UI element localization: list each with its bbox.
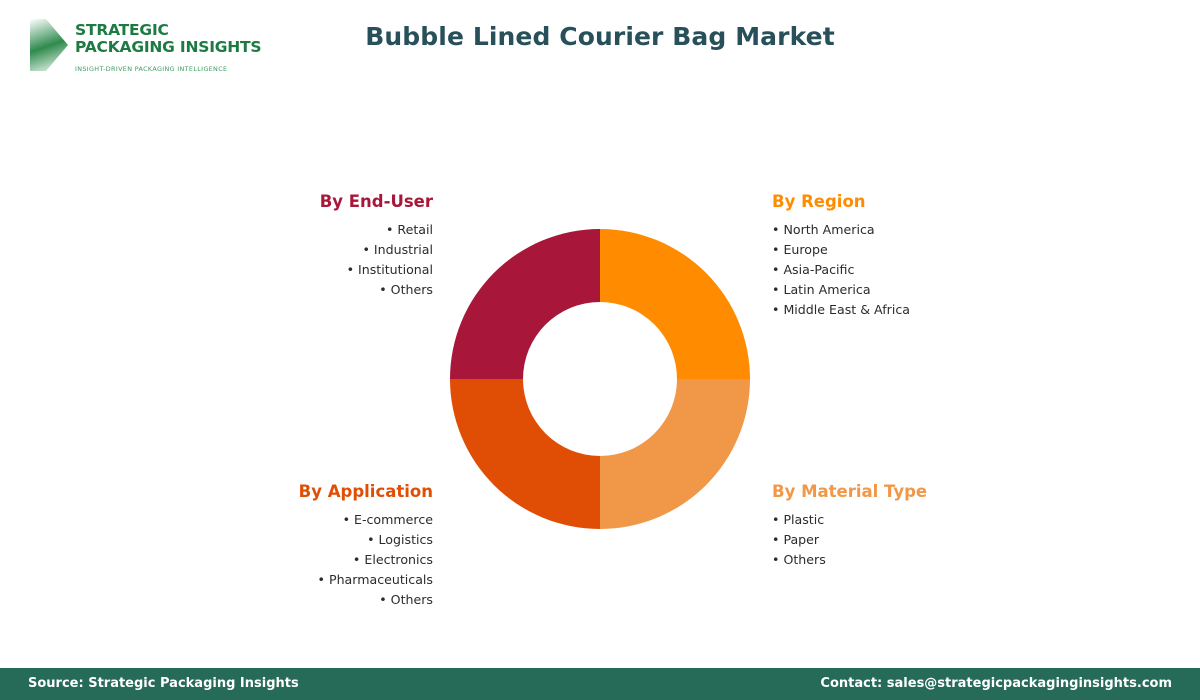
list-item: •Pharmaceuticals (180, 570, 433, 590)
segment-group-region: By Region •North America •Europe •Asia-P… (772, 192, 1032, 320)
donut-slice-region (600, 229, 750, 379)
segment-title-region: By Region (772, 192, 1032, 211)
list-item-label: Asia-Pacific (783, 262, 854, 277)
list-item: •Others (772, 550, 1032, 570)
donut-slice-material-type (600, 379, 750, 529)
bullet-icon: • (362, 242, 373, 257)
brand-tagline: INSIGHT-DRIVEN PACKAGING INTELLIGENCE (75, 65, 261, 73)
segment-title-end-user: By End-User (190, 192, 433, 211)
donut-slice-application (450, 379, 600, 529)
market-segmentation-donut-chart (450, 229, 750, 529)
footer-source-text: Source: Strategic Packaging Insights (28, 676, 299, 691)
bullet-icon: • (772, 532, 783, 547)
bullet-icon: • (347, 262, 358, 277)
footer-contact-text: Contact: sales@strategicpackaginginsight… (820, 676, 1172, 691)
list-item: •Middle East & Africa (772, 300, 1032, 320)
list-item-label: Paper (783, 532, 819, 547)
segment-title-material-type: By Material Type (772, 482, 1032, 501)
list-item-label: Industrial (374, 242, 433, 257)
list-item: •Electronics (180, 550, 433, 570)
bullet-icon: • (772, 282, 783, 297)
list-item-label: Others (783, 552, 825, 567)
page-title: Bubble Lined Courier Bag Market (0, 22, 1200, 51)
list-item: •Others (180, 590, 433, 610)
segment-group-material-type: By Material Type •Plastic •Paper •Others (772, 482, 1032, 570)
segment-list-end-user: •Retail •Industrial •Institutional •Othe… (190, 220, 433, 300)
bullet-icon: • (772, 552, 783, 567)
bullet-icon: • (318, 572, 329, 587)
list-item: •Retail (190, 220, 433, 240)
list-item: •Plastic (772, 510, 1032, 530)
bullet-icon: • (772, 512, 783, 527)
segment-list-application: •E-commerce •Logistics •Electronics •Pha… (180, 510, 433, 610)
list-item-label: North America (783, 222, 874, 237)
list-item-label: Logistics (379, 532, 433, 547)
list-item: •Paper (772, 530, 1032, 550)
list-item-label: Latin America (783, 282, 870, 297)
bullet-icon: • (379, 282, 390, 297)
bullet-icon: • (367, 532, 378, 547)
list-item-label: Institutional (358, 262, 433, 277)
bullet-icon: • (386, 222, 397, 237)
bullet-icon: • (379, 592, 390, 607)
bullet-icon: • (772, 222, 783, 237)
bullet-icon: • (343, 512, 354, 527)
list-item-label: Electronics (364, 552, 433, 567)
list-item-label: Middle East & Africa (783, 302, 910, 317)
list-item: •Asia-Pacific (772, 260, 1032, 280)
list-item: •Others (190, 280, 433, 300)
footer-bar: Source: Strategic Packaging Insights Con… (0, 668, 1200, 700)
list-item-label: Retail (397, 222, 433, 237)
list-item: •Europe (772, 240, 1032, 260)
list-item: •Latin America (772, 280, 1032, 300)
list-item-label: Others (391, 282, 433, 297)
segment-list-material-type: •Plastic •Paper •Others (772, 510, 1032, 570)
list-item-label: Europe (783, 242, 827, 257)
segment-title-application: By Application (180, 482, 433, 501)
segment-group-end-user: By End-User •Retail •Industrial •Institu… (190, 192, 433, 300)
list-item: •E-commerce (180, 510, 433, 530)
list-item-label: Plastic (783, 512, 824, 527)
bullet-icon: • (772, 262, 783, 277)
list-item-label: Pharmaceuticals (329, 572, 433, 587)
donut-slice-end-user (450, 229, 600, 379)
segment-group-application: By Application •E-commerce •Logistics •E… (180, 482, 433, 610)
list-item: •Institutional (190, 260, 433, 280)
bullet-icon: • (353, 552, 364, 567)
segment-list-region: •North America •Europe •Asia-Pacific •La… (772, 220, 1032, 320)
list-item: •Logistics (180, 530, 433, 550)
bullet-icon: • (772, 302, 783, 317)
list-item: •North America (772, 220, 1032, 240)
list-item: •Industrial (190, 240, 433, 260)
list-item-label: Others (391, 592, 433, 607)
bullet-icon: • (772, 242, 783, 257)
list-item-label: E-commerce (354, 512, 433, 527)
